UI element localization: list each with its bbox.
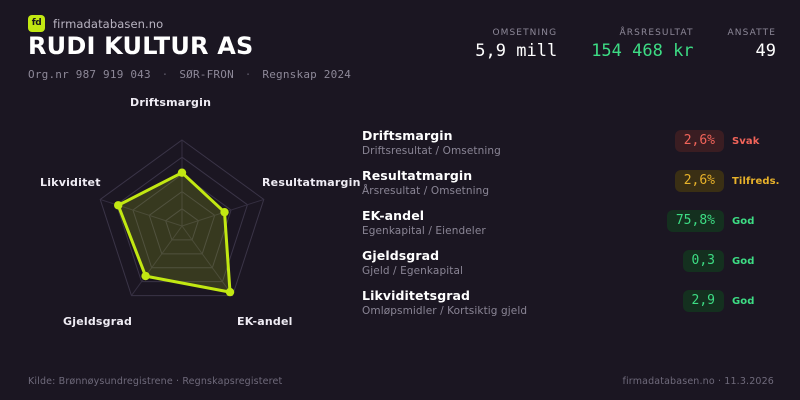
municipality: SØR-FRON [179, 68, 234, 81]
radar-data-point [114, 201, 122, 209]
metric-verdict: God [732, 296, 782, 307]
metric-name: Likviditetsgrad [362, 288, 470, 303]
metric-row-gjeldsgrad[interactable]: Gjeldsgrad Gjeld / Egenkapital 0,3 God [362, 248, 782, 288]
meta-separator-2: · [241, 68, 256, 81]
metric-row-driftsmargin[interactable]: Driftsmargin Driftsresultat / Omsetning … [362, 128, 782, 168]
brand-site-name: firmadatabasen.no [53, 17, 163, 31]
kpi-label: OMSETNING [492, 28, 557, 38]
radar-data-point [220, 208, 228, 216]
kpi-value: 49 [756, 43, 776, 60]
footer-credit: firmadatabasen.no · 11.3.2026 [623, 376, 774, 387]
metric-formula: Egenkapital / Eiendeler [362, 225, 486, 238]
metric-result: 75,8% God [667, 210, 782, 232]
metric-verdict: God [732, 216, 782, 227]
firmadatabasen-logo-icon: fd [28, 15, 45, 32]
radar-axis-label-likviditet: Likviditet [40, 176, 101, 189]
metric-formula: Gjeld / Egenkapital [362, 265, 463, 278]
kpi-value: 5,9 mill [475, 43, 557, 60]
radar-data-point [141, 272, 149, 280]
metric-value-badge: 2,6% [675, 170, 724, 192]
metric-result: 2,6% Tilfreds. [675, 170, 782, 192]
accounting-year: Regnskap 2024 [262, 68, 351, 81]
company-key-figures-card: fd firmadatabasen.no RUDI KULTUR AS Org.… [0, 0, 800, 400]
kpi-ansatte: ANSATTE 49 [728, 28, 776, 60]
org-number-prefix: Org.nr [28, 68, 69, 81]
metric-verdict: Tilfreds. [732, 176, 782, 187]
metric-result: 0,3 God [683, 250, 782, 272]
metric-formula: Omløpsmidler / Kortsiktig gjeld [362, 305, 527, 318]
metric-formula: Årsresultat / Omsetning [362, 185, 489, 198]
metrics-list: Driftsmargin Driftsresultat / Omsetning … [362, 128, 782, 328]
kpi-group: OMSETNING 5,9 mill ÅRSRESULTAT 154 468 k… [475, 28, 776, 60]
metric-result: 2,9 God [683, 290, 782, 312]
metric-verdict: God [732, 256, 782, 267]
radar-axis-label-gjeldsgrad: Gjeldsgrad [63, 315, 132, 328]
company-meta: Org.nr 987 919 043 · SØR-FRON · Regnskap… [28, 68, 351, 81]
metric-name: Driftsmargin [362, 128, 453, 143]
metric-value-badge: 2,9 [683, 290, 724, 312]
kpi-label: ANSATTE [728, 28, 776, 38]
kpi-value: 154 468 kr [591, 43, 693, 60]
header: fd firmadatabasen.no RUDI KULTUR AS Org.… [0, 0, 800, 88]
meta-separator-1: · [158, 68, 173, 81]
org-number: 987 919 043 [76, 68, 151, 81]
radar-data-point [226, 288, 234, 296]
radar-chart-svg [0, 88, 350, 348]
radar-series-area [118, 173, 230, 292]
metric-value-badge: 2,6% [675, 130, 724, 152]
metric-name: Resultatmargin [362, 168, 472, 183]
kpi-arsresultat: ÅRSRESULTAT 154 468 kr [591, 28, 693, 60]
kpi-label: ÅRSRESULTAT [620, 28, 694, 38]
metric-result: 2,6% Svak [675, 130, 782, 152]
radar-axis-label-driftsmargin: Driftsmargin [130, 96, 211, 109]
footer: Kilde: Brønnøysundregistrene · Regnskaps… [0, 366, 800, 400]
radar-chart: Driftsmargin Resultatmargin EK-andel Gje… [0, 88, 350, 348]
metric-row-ek-andel[interactable]: EK-andel Egenkapital / Eiendeler 75,8% G… [362, 208, 782, 248]
metric-row-resultatmargin[interactable]: Resultatmargin Årsresultat / Omsetning 2… [362, 168, 782, 208]
metric-verdict: Svak [732, 136, 782, 147]
metric-formula: Driftsresultat / Omsetning [362, 145, 501, 158]
metric-value-badge: 0,3 [683, 250, 724, 272]
radar-axis-label-resultatmargin: Resultatmargin [262, 176, 361, 189]
page-title: RUDI KULTUR AS [28, 34, 254, 58]
radar-axis-label-ek-andel: EK-andel [237, 315, 293, 328]
radar-data-point [178, 168, 186, 176]
footer-source: Kilde: Brønnøysundregistrene · Regnskaps… [28, 376, 282, 387]
metric-name: Gjeldsgrad [362, 248, 439, 263]
metric-row-likviditetsgrad[interactable]: Likviditetsgrad Omløpsmidler / Kortsikti… [362, 288, 782, 328]
brand[interactable]: fd firmadatabasen.no [28, 15, 163, 32]
metric-value-badge: 75,8% [667, 210, 724, 232]
kpi-omsetning: OMSETNING 5,9 mill [475, 28, 557, 60]
metric-name: EK-andel [362, 208, 424, 223]
